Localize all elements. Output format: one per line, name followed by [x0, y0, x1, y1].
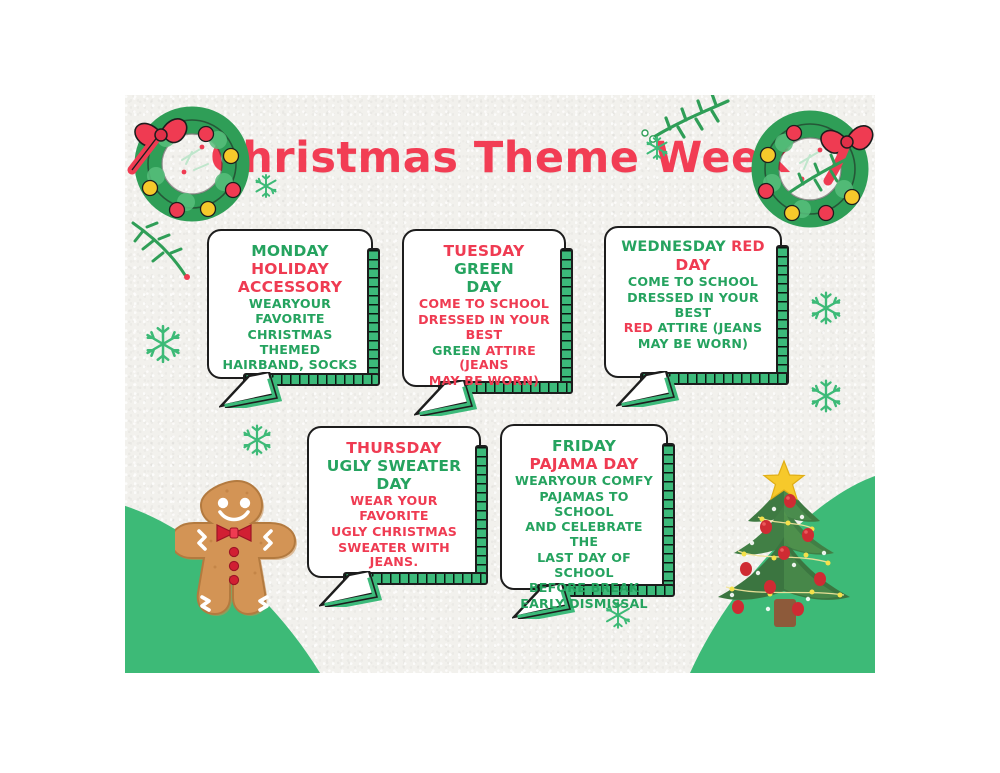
christmas-tree-icon	[702, 453, 867, 638]
page-title: Christmas Theme Week	[125, 133, 875, 183]
bubble-headline: FRIDAY	[514, 437, 654, 455]
body-segment: RED	[624, 320, 658, 335]
body-segment: BEFORE BREAK	[529, 580, 639, 595]
bubble-wednesday[interactable]: WEDNESDAY REDDAYCOME TO SCHOOLDRESSED IN…	[604, 226, 782, 378]
bubble-body-line: WEAR YOUR FAVORITE	[321, 494, 467, 523]
snowflake-icon	[808, 378, 844, 414]
bubble-headline: THURSDAY	[321, 439, 467, 457]
bubble-body-monday: MONDAYHOLIDAYACCESSORYWEARYOUR FAVORITEC…	[209, 231, 371, 381]
body-segment: DRESSED IN YOUR BEST	[418, 312, 550, 342]
bubble-body-line: MAY BE WORN)	[416, 374, 552, 389]
bubble-headline: UGLY SWEATER	[321, 457, 467, 475]
gingerbread-man-icon	[175, 473, 300, 618]
bubble-body-line: WEARYOUR COMFY	[514, 474, 654, 489]
bubble-body-wednesday: WEDNESDAY REDDAYCOME TO SCHOOLDRESSED IN…	[606, 228, 780, 360]
body-segment: HAIRBAND, SOCKS	[222, 357, 357, 372]
bubble-headline: PAJAMA DAY	[514, 455, 654, 473]
bubble-body-line: MAY BE WORN)	[618, 337, 768, 352]
bubble-body-line: UGLY CHRISTMAS	[321, 525, 467, 540]
poster: Christmas Theme Week	[125, 95, 875, 673]
body-segment: CHRISTMAS THEMED	[248, 327, 333, 357]
bubble-headline: WEDNESDAY RED	[618, 239, 768, 256]
bubble-body-thursday: THURSDAYUGLY SWEATERDAYWEAR YOUR FAVORIT…	[309, 428, 479, 578]
poster-canvas: Christmas Theme Week	[0, 0, 1000, 773]
bubble-body-tuesday: TUESDAYGREENDAYCOME TO SCHOOLDRESSED IN …	[404, 231, 564, 397]
bubble-headline: HOLIDAY	[221, 260, 359, 278]
bubble-body-line: LAST DAY OF SCHOOL	[514, 551, 654, 580]
bubble-body-line: BEFORE BREAK	[514, 581, 654, 596]
bubble-thursday[interactable]: THURSDAYUGLY SWEATERDAYWEAR YOUR FAVORIT…	[307, 426, 481, 578]
holly-sprig-left-icon	[127, 213, 217, 283]
bubble-body-line: GREEN ATTIRE (JEANS	[416, 344, 552, 373]
bubble-headline: GREEN	[416, 260, 552, 278]
bubble-body-line: EARLY DISMISSAL	[514, 597, 654, 612]
bubble-body-line: COME TO SCHOOL	[618, 275, 768, 290]
bubble-headline: DAY	[321, 475, 467, 493]
body-segment: EARLY DISMISSAL	[520, 596, 647, 611]
headline-segment: WEDNESDAY	[621, 239, 731, 255]
bubble-friday[interactable]: FRIDAYPAJAMA DAYWEARYOUR COMFYPAJAMAS TO…	[500, 424, 668, 590]
bubble-body-line: PAJAMAS TO SCHOOL	[514, 490, 654, 519]
bubble-body-line: COME TO SCHOOL	[416, 297, 552, 312]
body-segment: MAY BE WORN)	[429, 373, 539, 388]
bubble-body-line: DRESSED IN YOUR BEST	[416, 313, 552, 342]
body-segment: WEARYOUR COMFY	[515, 473, 653, 488]
bubble-monday[interactable]: MONDAYHOLIDAYACCESSORYWEARYOUR FAVORITEC…	[207, 229, 373, 379]
bubble-body-line: WEARYOUR FAVORITE	[221, 297, 359, 326]
body-segment: ATTIRE (JEANS	[658, 320, 763, 335]
bubble-headline: ACCESSORY	[221, 278, 359, 296]
body-segment: UGLY CHRISTMAS	[331, 524, 457, 539]
bubble-body-line: CHRISTMAS THEMED	[221, 328, 359, 357]
bubble-tail	[616, 371, 682, 407]
body-segment: COME TO SCHOOL	[419, 296, 549, 311]
body-segment: AND CELEBRATE THE	[525, 519, 642, 549]
headline-segment: RED	[731, 239, 765, 255]
bubble-headline: DAY	[416, 278, 552, 296]
bubble-tuesday[interactable]: TUESDAYGREENDAYCOME TO SCHOOLDRESSED IN …	[402, 229, 566, 387]
bubble-body-line: RED ATTIRE (JEANS	[618, 321, 768, 336]
snowflake-icon	[808, 290, 844, 326]
body-segment: SWEATER WITH JEANS.	[338, 540, 450, 570]
bubble-headline: DAY	[618, 256, 768, 274]
bubble-body-line: DRESSED IN YOUR BEST	[618, 291, 768, 320]
body-segment: GREEN	[432, 343, 485, 358]
bubble-body-line: SWEATER WITH JEANS.	[321, 541, 467, 570]
bubble-body-friday: FRIDAYPAJAMA DAYWEARYOUR COMFYPAJAMAS TO…	[502, 426, 666, 620]
snowflake-icon	[240, 423, 274, 457]
body-segment: COME TO SCHOOL	[628, 274, 758, 289]
bubble-body-line: HAIRBAND, SOCKS	[221, 358, 359, 373]
bubble-headline: MONDAY	[221, 242, 359, 260]
body-segment: MAY BE WORN)	[638, 336, 748, 351]
body-segment: WEARYOUR FAVORITE	[249, 296, 331, 326]
body-segment: DRESSED IN YOUR BEST	[627, 290, 759, 320]
body-segment: WEAR YOUR FAVORITE	[350, 493, 437, 523]
body-segment: PAJAMAS TO SCHOOL	[539, 489, 628, 519]
bubble-body-line: AND CELEBRATE THE	[514, 520, 654, 549]
snowflake-icon	[142, 323, 184, 365]
body-segment: LAST DAY OF SCHOOL	[537, 550, 631, 580]
bubble-headline: TUESDAY	[416, 242, 552, 260]
